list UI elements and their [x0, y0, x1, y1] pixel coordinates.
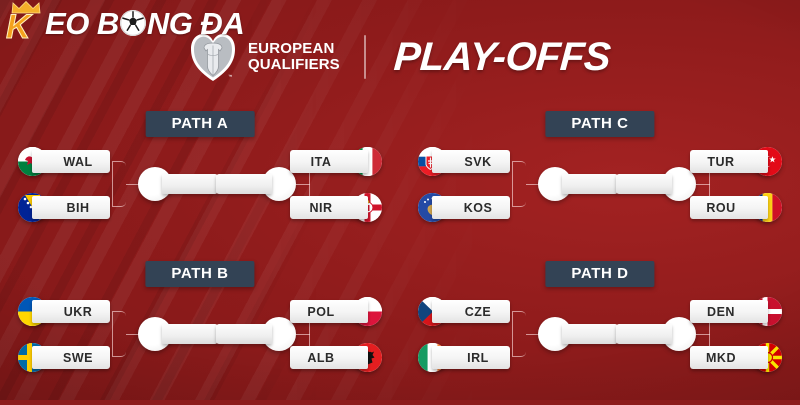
path-b-title: PATH B [145, 261, 254, 287]
path-b-team-swe-pill: SWE [32, 346, 110, 369]
path-b-bracket: PATH B UKR SWE [0, 255, 400, 405]
path-b-team-swe[interactable]: SWE [18, 343, 110, 372]
path-c-team-tur-pill: TUR [690, 150, 768, 173]
path-b-final-slot-left[interactable] [138, 317, 218, 351]
path-a-team-nir-pill: NIR [290, 196, 368, 219]
path-b-final-slot-right[interactable] [216, 317, 296, 351]
competition-line-2: QUALIFIERS [248, 57, 340, 73]
soccer-ball-icon [120, 10, 146, 36]
path-b-team-alb-pill: ALB [290, 346, 368, 369]
path-b-team-pol[interactable]: POL [290, 297, 382, 326]
path-c-final-slot-right-bar [616, 174, 672, 194]
path-a-team-wal-code: WAL [48, 155, 110, 169]
path-a-connector-left [112, 161, 126, 207]
path-b-team-ukr[interactable]: UKR [18, 297, 110, 326]
path-c-team-tur-code: TUR [690, 155, 752, 169]
path-b-final-slot-right-bar [216, 324, 272, 344]
path-b-connector-left [112, 311, 126, 357]
path-c-team-kos-code: KOS [448, 201, 510, 215]
path-a-final-slot-right[interactable] [216, 167, 296, 201]
path-b-team-alb[interactable]: ALB [290, 343, 382, 372]
svg-text:™: ™ [228, 74, 233, 79]
path-d-team-irl-code: IRL [448, 351, 510, 365]
path-b-final-slot-left-bar [162, 324, 218, 344]
path-b-team-alb-code: ALB [290, 351, 352, 365]
path-a-team-ita-pill: ITA [290, 150, 368, 173]
path-a-team-bih-code: BIH [48, 201, 110, 215]
path-c-bracket: PATH C SVK KOS [400, 105, 800, 255]
path-c-final-slot-right[interactable] [616, 167, 696, 201]
path-d-team-mkd-pill: MKD [690, 346, 768, 369]
path-d-bracket: PATH D CZE IRL [400, 255, 800, 405]
path-d-title: PATH D [545, 261, 654, 287]
path-d-team-cze-pill: CZE [432, 300, 510, 323]
path-c-team-rou[interactable]: ROU [690, 193, 782, 222]
path-d-final-slot-left[interactable] [538, 317, 618, 351]
path-c-team-kos[interactable]: KOS [418, 193, 510, 222]
path-b-team-pol-pill: POL [290, 300, 368, 323]
path-d-team-mkd[interactable]: MKD [690, 343, 782, 372]
path-a-team-bih[interactable]: BIH [18, 193, 110, 222]
path-b-team-pol-code: POL [290, 305, 352, 319]
path-a-team-wal-pill: WAL [32, 150, 110, 173]
path-d-team-cze-code: CZE [448, 305, 510, 319]
logo-text-ngda: NG ĐA [147, 8, 244, 39]
path-c-connector-left [512, 161, 526, 207]
path-c-team-svk-pill: SVK [432, 150, 510, 173]
path-a-title: PATH A [146, 111, 255, 137]
path-b-team-swe-code: SWE [48, 351, 110, 365]
path-d-final-slot-right[interactable] [616, 317, 696, 351]
competition-line-1: EUROPEAN [248, 41, 340, 57]
path-a-bracket: PATH A WAL BIH [0, 105, 400, 255]
page-title: PLAY-OFFS [392, 35, 611, 80]
path-a-team-wal[interactable]: WAL [18, 147, 110, 176]
path-a-team-ita-code: ITA [290, 155, 352, 169]
path-a-final-slot-right-bar [216, 174, 272, 194]
path-c-final-slot-left-bar [562, 174, 618, 194]
site-logo[interactable]: K E O B NG ĐA [6, 2, 244, 44]
path-a-final-slot-left-bar [162, 174, 218, 194]
path-c-team-rou-code: ROU [690, 201, 752, 215]
path-d-connector-left [512, 311, 526, 357]
path-d-final-slot-right-bar [616, 324, 672, 344]
path-d-team-den-code: DEN [690, 305, 752, 319]
path-d-team-irl-pill: IRL [432, 346, 510, 369]
path-a-team-bih-pill: BIH [32, 196, 110, 219]
logo-letter-k: K [6, 10, 30, 44]
logo-k-wrap: K [6, 2, 48, 44]
path-d-team-den-pill: DEN [690, 300, 768, 323]
logo-text-e: E [45, 8, 65, 39]
path-b-team-ukr-code: UKR [48, 305, 110, 319]
path-c-title: PATH C [545, 111, 654, 137]
path-a-team-nir[interactable]: NIR [290, 193, 382, 222]
logo-text-ob: O B [65, 8, 119, 39]
path-d-final-slot-left-bar [562, 324, 618, 344]
path-d-team-den[interactable]: DEN [690, 297, 782, 326]
logo-wordmark: E O B NG ĐA [45, 8, 244, 39]
path-a-team-ita[interactable]: ITA [290, 147, 382, 176]
path-c-team-svk[interactable]: SVK [418, 147, 510, 176]
path-c-team-kos-pill: KOS [432, 196, 510, 219]
path-b-team-ukr-pill: UKR [32, 300, 110, 323]
path-c-team-svk-code: SVK [448, 155, 510, 169]
competition-name: EUROPEAN QUALIFIERS [248, 41, 340, 72]
path-a-team-nir-code: NIR [290, 201, 352, 215]
header-divider [364, 35, 366, 79]
path-d-team-irl[interactable]: IRL [418, 343, 510, 372]
path-d-team-mkd-code: MKD [690, 351, 752, 365]
path-d-team-cze[interactable]: CZE [418, 297, 510, 326]
path-c-final-slot-left[interactable] [538, 167, 618, 201]
path-a-final-slot-left[interactable] [138, 167, 218, 201]
path-c-team-tur[interactable]: TUR [690, 147, 782, 176]
path-c-team-rou-pill: ROU [690, 196, 768, 219]
